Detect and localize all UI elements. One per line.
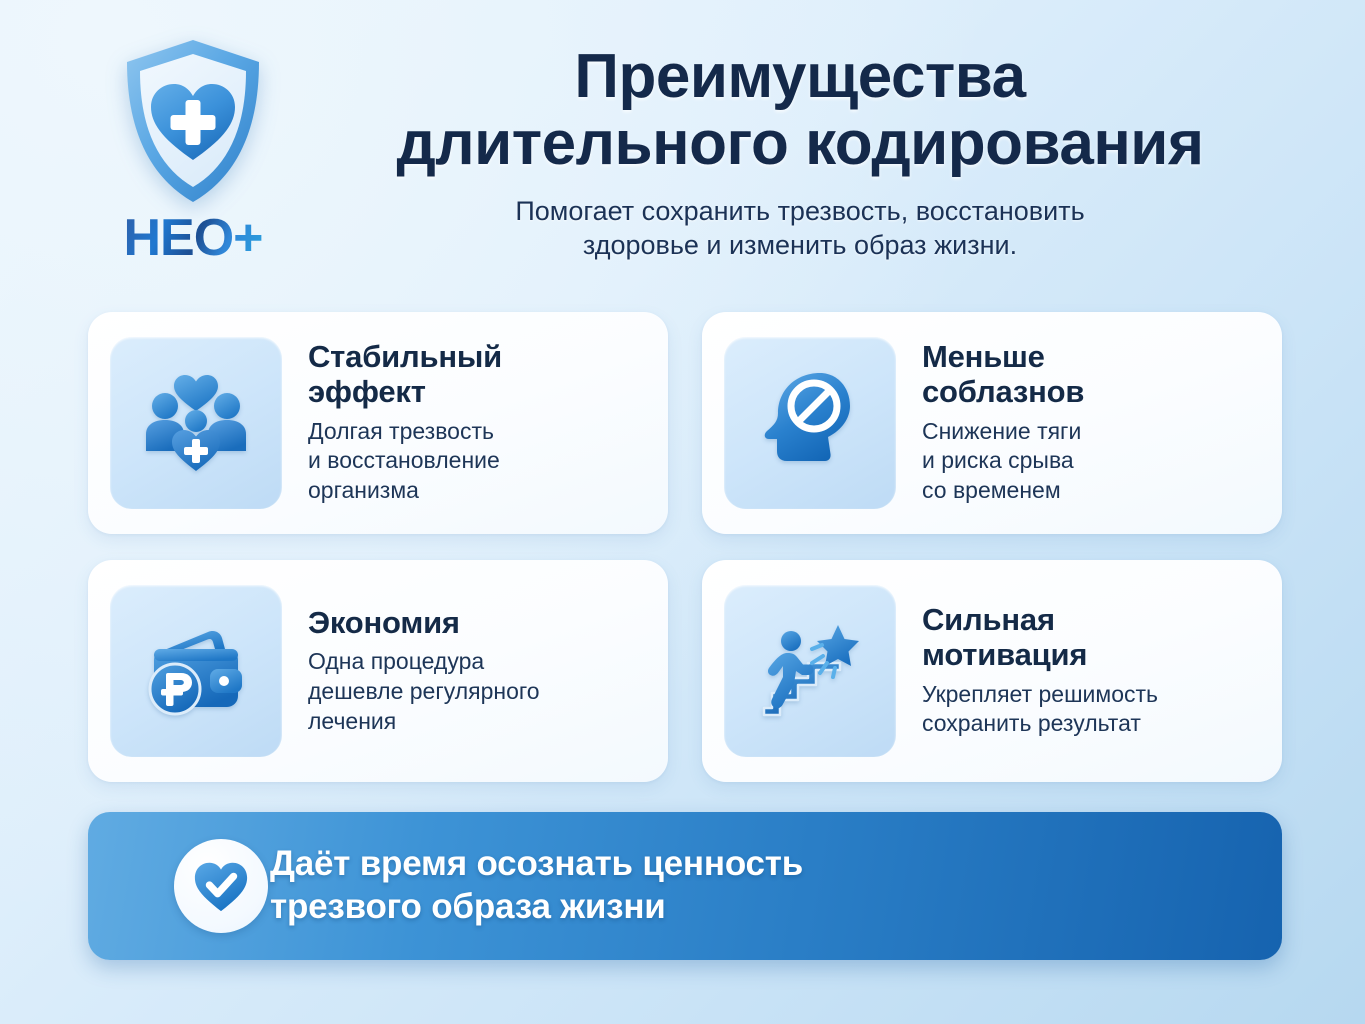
- card-title: Сильная мотивация: [922, 603, 1158, 672]
- card-description: Укрепляет решимость сохранить результат: [922, 680, 1158, 739]
- page-title-line-2: длительного кодирования: [396, 109, 1203, 178]
- benefit-card-less-temptation: Меньше соблазнов Снижение тяги и риска с…: [702, 312, 1282, 534]
- head-no-entry-icon: [724, 337, 896, 509]
- card-description: Одна процедура дешевле регулярного лечен…: [308, 647, 540, 736]
- brand-wordmark: НЕО+: [123, 212, 262, 264]
- card-title: Меньше соблазнов: [922, 340, 1084, 409]
- title-block: Преимущества длительного кодирования Пом…: [300, 44, 1300, 263]
- card-text: Стабильный эффект Долгая трезвость и вос…: [282, 340, 506, 505]
- page-title-line-1: Преимущества: [574, 42, 1025, 111]
- card-description: Снижение тяги и риска срыва со временем: [922, 417, 1084, 506]
- card-title: Экономия: [308, 606, 540, 641]
- benefit-card-motivation: Сильная мотивация Укрепляет решимость со…: [702, 560, 1282, 782]
- heart-check-circle-icon: [174, 839, 268, 933]
- person-stairs-star-icon: [724, 585, 896, 757]
- page-title: Преимущества длительного кодирования: [300, 44, 1300, 178]
- page-subtitle: Помогает сохранить трезвость, восстанови…: [300, 194, 1300, 263]
- card-title: Стабильный эффект: [308, 340, 502, 409]
- card-description: Долгая трезвость и восстановление органи…: [308, 417, 502, 506]
- card-text: Экономия Одна процедура дешевле регулярн…: [282, 606, 544, 737]
- card-text: Меньше соблазнов Снижение тяги и риска с…: [896, 340, 1088, 505]
- benefit-card-savings: Экономия Одна процедура дешевле регулярн…: [88, 560, 668, 782]
- benefit-card-stable-effect: Стабильный эффект Долгая трезвость и вос…: [88, 312, 668, 534]
- bottom-banner: Даёт время осознать ценность трезвого об…: [88, 812, 1282, 960]
- header: НЕО+ Преимущества длительного кодировани…: [0, 0, 1365, 300]
- card-text: Сильная мотивация Укрепляет решимость со…: [896, 603, 1162, 739]
- benefit-card-grid: Стабильный эффект Долгая трезвость и вос…: [88, 312, 1282, 782]
- banner-text: Даёт время осознать ценность трезвого об…: [270, 843, 803, 928]
- infographic-page: НЕО+ Преимущества длительного кодировани…: [0, 0, 1365, 1024]
- brand-logo: НЕО+: [78, 36, 308, 264]
- wallet-ruble-coin-icon: [110, 585, 282, 757]
- family-heart-plus-icon: [110, 337, 282, 509]
- shield-heart-plus-icon: [117, 36, 269, 208]
